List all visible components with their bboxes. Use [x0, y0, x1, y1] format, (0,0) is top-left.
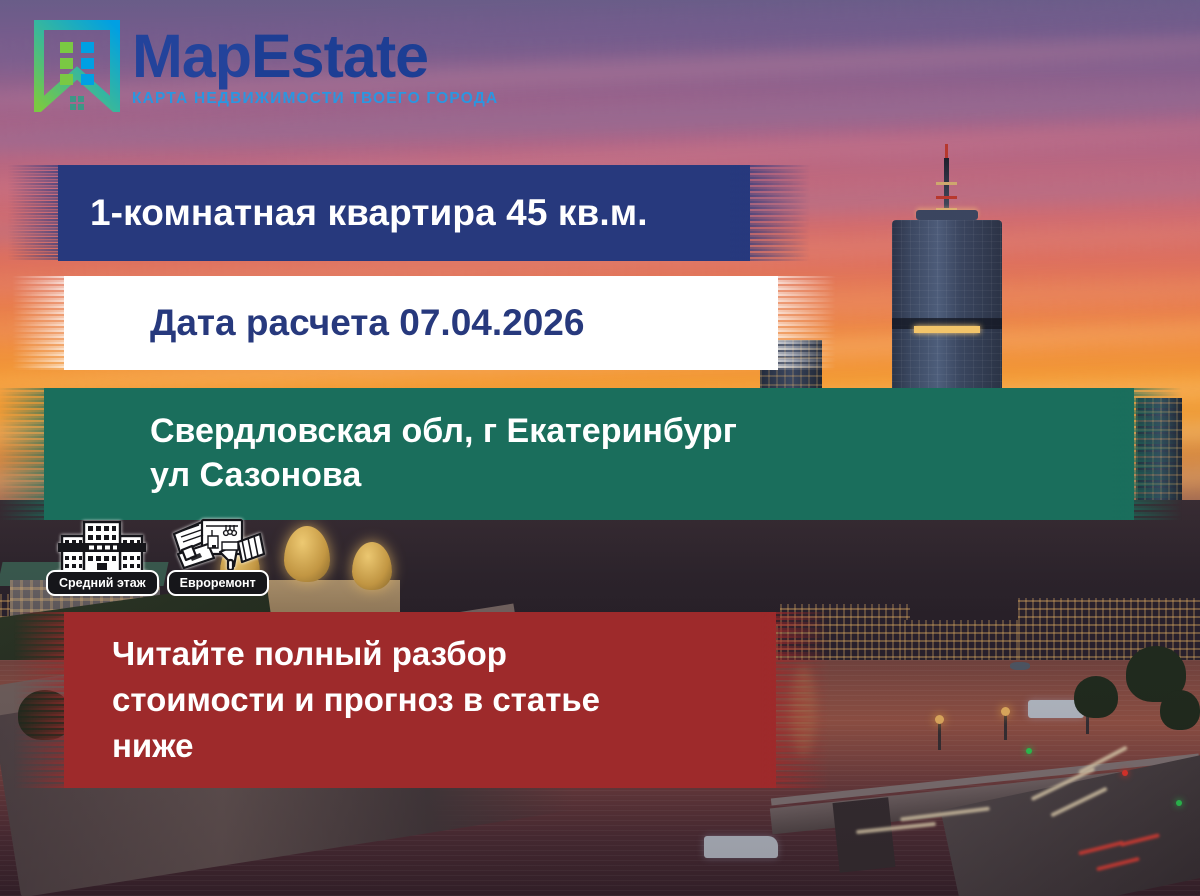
badge-renovation[interactable]: Евроремонт: [167, 516, 269, 596]
traffic-light-red: [1122, 770, 1128, 776]
brand-name-part1: Map: [132, 22, 251, 90]
tower-crown: [916, 210, 978, 220]
brand-name: MapEstate: [132, 26, 498, 87]
badge-renovation-label: Евроремонт: [167, 570, 269, 596]
brand-name-part2: Estate: [251, 22, 428, 90]
address-line-1: Свердловская обл, г Екатеринбург: [150, 410, 737, 454]
calculation-date-text: Дата расчета 07.04.2026: [64, 302, 584, 344]
church-dome: [284, 526, 330, 582]
tree: [1074, 676, 1118, 718]
mast-ring: [936, 196, 957, 199]
church-dome: [352, 542, 392, 590]
brush-edge-right: [730, 165, 810, 261]
tower-lit-floor: [914, 326, 980, 333]
cta-line-1: Читайте полный разбор: [112, 631, 600, 677]
brush-edge-right: [760, 612, 830, 788]
badge-floor[interactable]: Средний этаж: [46, 516, 159, 596]
renovation-tools-icon: [168, 516, 268, 578]
mast-ring: [936, 182, 957, 185]
banner-call-to-action: Читайте полный разбор стоимости и прогно…: [64, 612, 776, 788]
apartment-building-icon: [56, 516, 148, 578]
tree: [1160, 690, 1200, 730]
banner-address: Свердловская обл, г Екатеринбург ул Сазо…: [44, 388, 1134, 520]
banner-calculation-date: Дата расчета 07.04.2026: [64, 276, 778, 370]
feature-badges: Средний этаж: [46, 516, 269, 596]
address-text: Свердловская обл, г Екатеринбург ул Сазо…: [44, 410, 737, 497]
brand-logo[interactable]: MapEstate КАРТА НЕДВИЖИМОСТИ ТВОЕГО ГОРО…: [34, 20, 498, 112]
brush-edge-right: [1112, 388, 1182, 520]
traffic-light-green: [1176, 800, 1182, 806]
badge-floor-label: Средний этаж: [46, 570, 159, 596]
river-boat: [704, 836, 778, 858]
brand-wordmark: MapEstate КАРТА НЕДВИЖИМОСТИ ТВОЕГО ГОРО…: [132, 20, 498, 108]
property-title-text: 1-комнатная квартира 45 кв.м.: [58, 192, 648, 234]
map-bookmark-building-icon: [34, 20, 120, 112]
property-promo-poster: MapEstate КАРТА НЕДВИЖИМОСТИ ТВОЕГО ГОРО…: [0, 0, 1200, 896]
bridge-pier: [832, 797, 895, 872]
cta-line-2: стоимости и прогноз в статье: [112, 677, 600, 723]
brand-tagline: КАРТА НЕДВИЖИМОСТИ ТВОЕГО ГОРОДА: [132, 90, 498, 108]
address-line-2: ул Сазонова: [150, 454, 737, 498]
small-boat: [1010, 662, 1030, 670]
call-to-action-text: Читайте полный разбор стоимости и прогно…: [64, 631, 600, 770]
brush-edge-right: [758, 276, 836, 370]
traffic-light-green: [1026, 748, 1032, 754]
banner-property-title: 1-комнатная квартира 45 кв.м.: [58, 165, 750, 261]
cta-line-3: ниже: [112, 723, 600, 769]
